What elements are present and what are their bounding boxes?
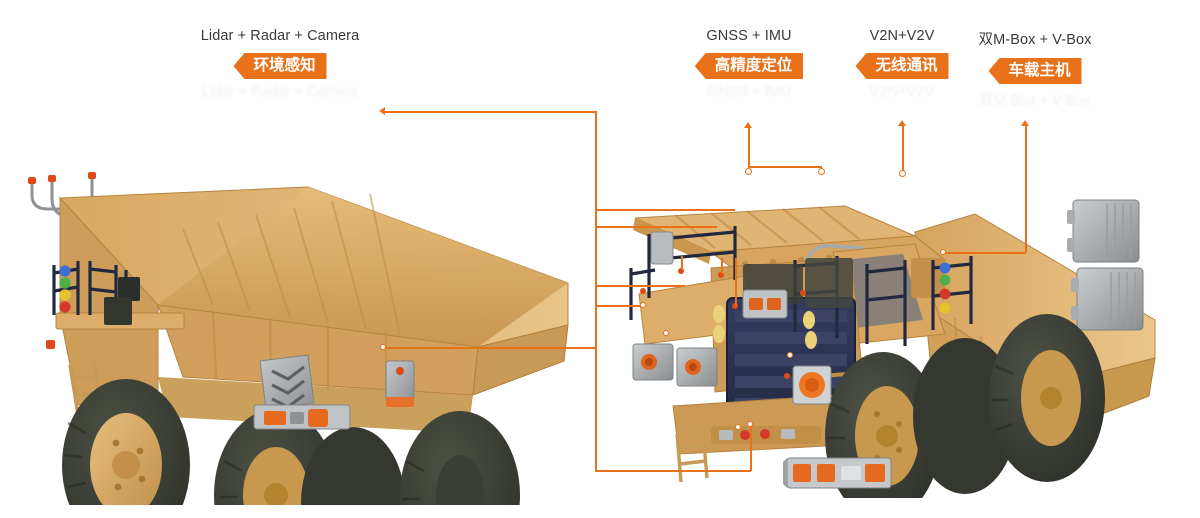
connector-branch-2 xyxy=(595,226,717,228)
front-marker-1 xyxy=(800,290,806,296)
rear-marker-light xyxy=(46,340,55,349)
control-box-left xyxy=(651,232,673,264)
badge-communication[interactable]: 无线通讯 xyxy=(855,53,948,79)
connector-branch-3 xyxy=(595,285,685,287)
roof-marker-4 xyxy=(663,330,669,336)
mbox-unit xyxy=(743,290,787,318)
ghost-caption-positioning: GNSS + IMU xyxy=(665,84,833,100)
camera-module-left-b xyxy=(677,348,717,386)
autonomous-mining-truck-diagram: Lidar + Radar + Camera 环境感知 Lidar + Rada… xyxy=(0,0,1200,518)
bottom-marker-1 xyxy=(735,424,741,430)
lidar-bar-bottom xyxy=(783,458,891,488)
branch-4-ring xyxy=(640,302,646,308)
arrow-up-v2x xyxy=(898,120,906,126)
branch-4-marker xyxy=(640,288,646,294)
roof-stub-2 xyxy=(721,258,723,274)
connector-gnss-vertical xyxy=(748,128,750,167)
connector-v2x-vertical xyxy=(902,126,904,170)
bottom-riser-marker xyxy=(747,421,753,427)
front-marker-3 xyxy=(784,373,790,379)
tire-rear-right-r xyxy=(989,314,1105,482)
label-caption-onboard-unit: 双M-Box + V-Box xyxy=(960,28,1110,49)
label-group-communication: V2N+V2V 无线通讯 V2N+V2V xyxy=(836,28,968,100)
ghost-caption-perception: Lidar + Radar + Camera xyxy=(180,84,380,100)
connector-mbox-vertical xyxy=(1025,126,1027,252)
radar-module-front xyxy=(793,366,831,404)
ghost-caption-communication: V2N+V2V xyxy=(836,84,968,100)
connector-gnss-horizontal xyxy=(748,166,822,168)
radar-module-right xyxy=(386,361,414,407)
deck-sensor-box-2 xyxy=(104,297,132,325)
connector-mbox-horizontal xyxy=(943,252,1026,254)
right-truck-illustration xyxy=(615,148,1200,498)
label-caption-communication: V2N+V2V xyxy=(836,28,968,44)
label-group-onboard-unit: 双M-Box + V-Box 车载主机 双M-Box + V-Box xyxy=(960,28,1110,110)
badge-onboard-unit[interactable]: 车载主机 xyxy=(988,58,1081,84)
connector-branch-left-truck xyxy=(384,347,596,349)
connector-branch-4 xyxy=(595,305,643,307)
connector-main-spine xyxy=(595,111,597,471)
connector-perception-horizontal xyxy=(385,111,596,113)
vbox-panel-lower xyxy=(1071,268,1143,330)
cab-side-panel xyxy=(911,258,945,298)
gnss-antenna-ring xyxy=(818,168,825,175)
left-truck-lidar-marker xyxy=(380,344,386,350)
arrow-up-gnss xyxy=(744,122,752,128)
vbox-panel-upper xyxy=(1067,200,1139,262)
left-truck-illustration xyxy=(8,165,588,505)
v2x-antenna-ring xyxy=(899,170,906,177)
arrow-up-mbox xyxy=(1021,120,1029,126)
camera-module-left-a xyxy=(633,344,673,380)
deck-equipment-box-2 xyxy=(805,258,853,308)
connector-bottom-horizontal xyxy=(595,470,751,472)
arrow-left-perception xyxy=(379,107,385,115)
roof-stub-1 xyxy=(681,256,683,270)
gnss-antenna-ring-2 xyxy=(745,168,752,175)
badge-perception[interactable]: 环境感知 xyxy=(233,53,326,79)
connector-branch-1 xyxy=(595,209,735,211)
connector-bottom-riser xyxy=(750,426,752,471)
label-caption-positioning: GNSS + IMU xyxy=(665,28,833,44)
ghost-caption-onboard-unit: 双M-Box + V-Box xyxy=(960,89,1110,110)
mbox-unit-marker xyxy=(940,249,946,255)
sensor-pole-tips xyxy=(28,172,96,184)
roof-stub-3 xyxy=(735,258,737,306)
label-caption-perception: Lidar + Radar + Camera xyxy=(180,28,380,44)
label-group-perception: Lidar + Radar + Camera 环境感知 Lidar + Rada… xyxy=(180,28,380,100)
front-marker-2 xyxy=(787,352,793,358)
label-group-positioning: GNSS + IMU 高精度定位 GNSS + IMU xyxy=(665,28,833,100)
badge-positioning[interactable]: 高精度定位 xyxy=(695,53,804,79)
